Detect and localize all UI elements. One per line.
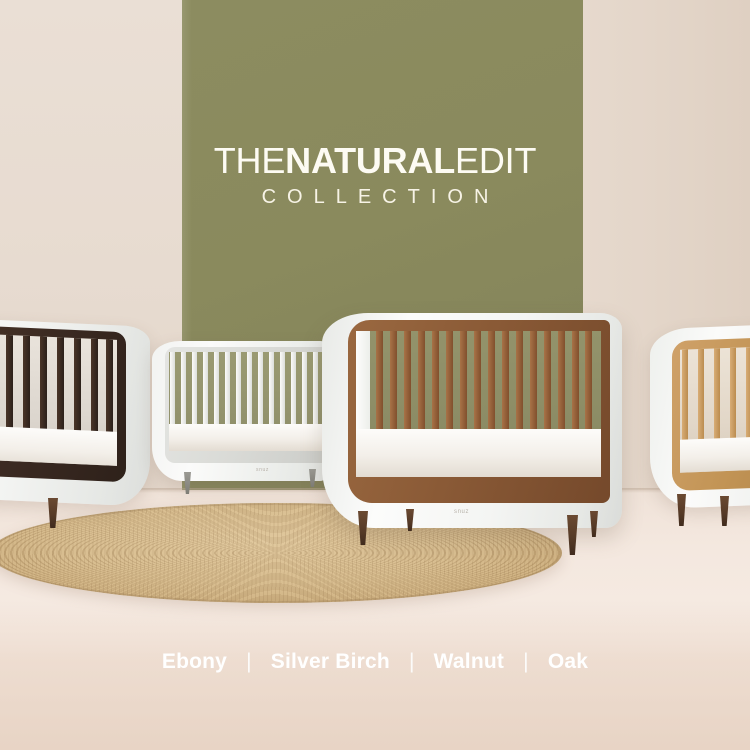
crib-oak-wood-frame xyxy=(672,335,750,491)
finish-separator-1: | xyxy=(233,650,265,673)
promo-scene: snuz xyxy=(0,0,750,750)
crib-walnut-slat-area xyxy=(356,331,601,477)
crib-silver-birch-mattress xyxy=(169,424,328,451)
crib-walnut[interactable]: snuz xyxy=(322,313,622,528)
crib-silver-birch-wood-frame xyxy=(165,347,328,463)
headline-the: THE xyxy=(214,140,285,181)
crib-oak[interactable] xyxy=(650,326,750,506)
subheadline-collection: COLLECTION xyxy=(0,186,750,209)
crib-silver-birch-slat-area xyxy=(169,352,328,451)
crib-ebony-wood-frame xyxy=(0,324,126,483)
crib-silver-birch-brand-mark: snuz xyxy=(256,467,269,473)
finish-separator-3: | xyxy=(510,650,542,673)
crib-oak-slat-area xyxy=(680,344,750,473)
crib-ebony-slat-area xyxy=(0,332,117,466)
crib-walnut-brand-mark: snuz xyxy=(454,509,469,515)
headline-edit: EDIT xyxy=(455,140,536,181)
finish-list: Ebony | Silver Birch | Walnut | Oak xyxy=(0,650,750,674)
finish-label-silver-birch[interactable]: Silver Birch xyxy=(271,650,390,673)
headline-natural: NATURAL xyxy=(285,140,455,181)
crib-oak-mattress xyxy=(680,434,750,473)
finish-label-walnut[interactable]: Walnut xyxy=(434,650,504,673)
crib-ebony[interactable] xyxy=(0,322,150,502)
crib-walnut-mattress xyxy=(356,429,601,477)
finish-separator-2: | xyxy=(396,650,428,673)
crib-walnut-wood-frame xyxy=(348,320,610,503)
crib-silver-birch[interactable]: snuz xyxy=(152,341,328,481)
bottom-gradient-band xyxy=(0,600,750,750)
finish-label-oak[interactable]: Oak xyxy=(548,650,588,673)
headline: THENATURALEDIT xyxy=(0,141,750,181)
finish-label-ebony[interactable]: Ebony xyxy=(162,650,227,673)
